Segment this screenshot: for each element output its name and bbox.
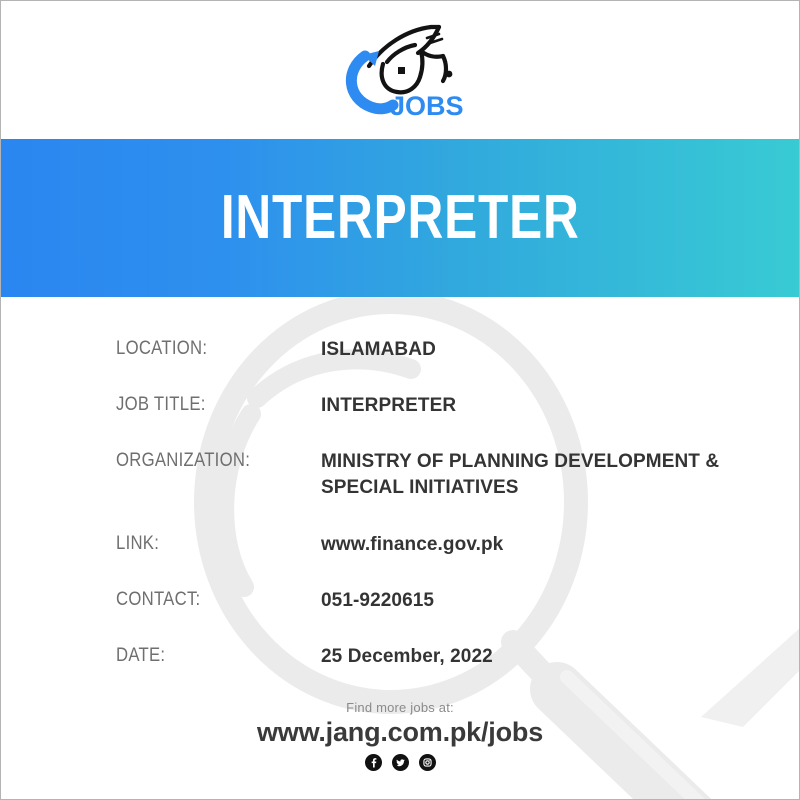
detail-label: JOB TITLE: <box>116 393 296 417</box>
detail-label: LINK: <box>116 532 296 556</box>
facebook-icon[interactable] <box>365 754 382 771</box>
logo-header: JOBS <box>1 1 799 139</box>
footer: Find more jobs at: www.jang.com.pk/jobs <box>1 700 799 771</box>
detail-row-location: LOCATION: ISLAMABAD <box>1 337 799 362</box>
detail-label: DATE: <box>116 644 296 668</box>
job-card: JOBS INTERPRETER <box>0 0 800 800</box>
footer-url[interactable]: www.jang.com.pk/jobs <box>1 716 799 748</box>
detail-list: LOCATION: ISLAMABAD JOB TITLE: INTERPRET… <box>1 297 799 669</box>
detail-row-contact: CONTACT: 051-9220615 <box>1 588 799 613</box>
detail-value-job-title: INTERPRETER <box>321 393 721 418</box>
jang-jobs-logo[interactable]: JOBS <box>335 18 465 122</box>
twitter-icon[interactable] <box>392 754 409 771</box>
detail-row-organization: ORGANIZATION: MINISTRY OF PLANNING DEVEL… <box>1 449 799 501</box>
detail-row-link: LINK: www.finance.gov.pk <box>1 532 799 557</box>
svg-text:JOBS: JOBS <box>390 91 464 121</box>
instagram-icon[interactable] <box>419 754 436 771</box>
detail-row-date: DATE: 25 December, 2022 <box>1 644 799 669</box>
job-title-banner: INTERPRETER <box>1 139 799 297</box>
detail-value-date: 25 December, 2022 <box>321 644 721 669</box>
detail-label: CONTACT: <box>116 588 296 612</box>
detail-value-location: ISLAMABAD <box>321 337 721 362</box>
banner-title: INTERPRETER <box>221 187 580 249</box>
footer-caption: Find more jobs at: <box>1 700 799 715</box>
social-links <box>1 754 799 771</box>
detail-label: LOCATION: <box>116 337 296 361</box>
detail-value-link[interactable]: www.finance.gov.pk <box>321 532 721 557</box>
job-details-area: LOCATION: ISLAMABAD JOB TITLE: INTERPRET… <box>1 297 799 799</box>
detail-value-organization: MINISTRY OF PLANNING DEVELOPMENT & SPECI… <box>321 449 721 501</box>
detail-value-contact: 051-9220615 <box>321 588 721 613</box>
detail-label: ORGANIZATION: <box>116 449 296 473</box>
detail-row-job-title: JOB TITLE: INTERPRETER <box>1 393 799 418</box>
